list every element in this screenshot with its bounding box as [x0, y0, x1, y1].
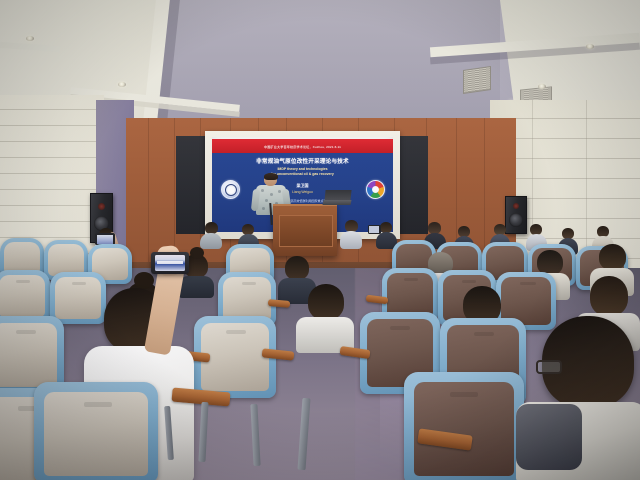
- university-seal-logo-icon: [221, 180, 240, 199]
- slide-subtitle-en-1: IMDP theory and technologies: [277, 167, 327, 171]
- slide-presenter-cn: 梁卫国: [297, 183, 309, 189]
- downlight-icon: [118, 82, 126, 87]
- seat[interactable]: [34, 382, 158, 480]
- person-jacket: [516, 404, 582, 470]
- side-panel-right: [398, 136, 428, 234]
- seat[interactable]: [0, 270, 50, 322]
- side-panel-left: [176, 136, 206, 234]
- colorful-circular-logo-icon: [366, 180, 385, 199]
- camera-lcd-screen: [155, 255, 185, 271]
- foreground-person-with-glasses: [516, 316, 640, 480]
- slide-presenter-en: Liang Weiguo: [292, 190, 313, 194]
- downlight-icon: [26, 36, 34, 41]
- eyeglasses-icon: [536, 360, 562, 374]
- seat[interactable]: [404, 372, 524, 480]
- downlight-icon: [586, 44, 594, 49]
- wooden-podium: [273, 204, 337, 256]
- slide-banner: 中国矿业大学百年校庆学术论坛，Xuzhou, 2021.6.11: [212, 139, 393, 153]
- audience-person: [340, 220, 362, 248]
- audience-person: [200, 222, 222, 248]
- slide-banner-text: 中国矿业大学百年校庆学术论坛，Xuzhou, 2021.6.11: [264, 144, 341, 149]
- presenter-hair: [264, 173, 278, 180]
- podium-front-panel: [279, 215, 333, 247]
- presenter-laptop-keyboard: [322, 200, 351, 205]
- handheld-camera-recording-icon: [151, 252, 189, 274]
- ceiling-air-vent: [463, 66, 491, 94]
- audience-person: [296, 284, 354, 350]
- lecture-hall-photo: 中国矿业大学百年校庆学术论坛，Xuzhou, 2021.6.11 非常规油气原位…: [0, 0, 640, 480]
- slide-title-cn: 非常规油气原位改性开采理论与技术: [256, 157, 349, 165]
- downlight-icon: [538, 84, 546, 89]
- smartphone-recording-icon: [368, 225, 381, 234]
